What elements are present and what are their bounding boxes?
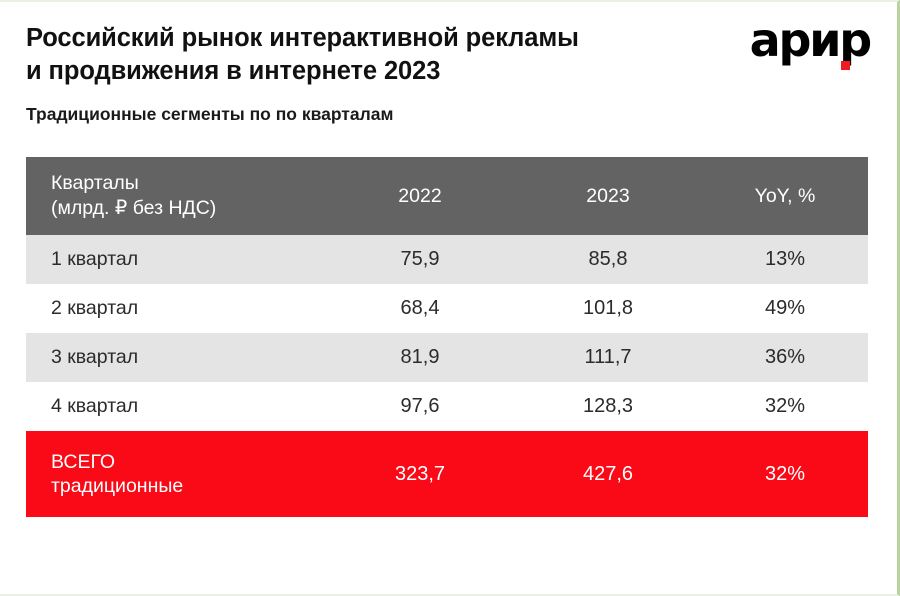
row-label: 1 квартал: [26, 235, 326, 284]
table-total-row: ВСЕГО традиционные 323,7 427,6 32%: [26, 431, 868, 517]
total-value-2022: 323,7: [326, 431, 514, 517]
page-subtitle: Традиционные сегменты по по кварталам: [26, 87, 874, 125]
slide: Российский рынок интерактивной рекламы и…: [0, 0, 900, 596]
logo-accent-square-icon: [841, 61, 850, 70]
total-label-line-1: ВСЕГО: [51, 450, 326, 474]
total-value-yoy: 32%: [702, 431, 868, 517]
total-label: ВСЕГО традиционные: [26, 431, 326, 517]
table-row: 3 квартал 81,9 111,7 36%: [26, 333, 868, 382]
row-value-yoy: 32%: [702, 382, 868, 431]
header-cell-2022: 2022: [326, 157, 514, 235]
total-label-line-2: традиционные: [51, 474, 326, 498]
row-label: 3 квартал: [26, 333, 326, 382]
page-title-line-2: и продвижения в интернете 2023: [26, 55, 686, 88]
header-quarters-line-1: Кварталы: [51, 171, 326, 196]
header-cell-quarters: Кварталы (млрд. ₽ без НДС): [26, 157, 326, 235]
row-value-2023: 101,8: [514, 284, 702, 333]
page-title: Российский рынок интерактивной рекламы и…: [26, 22, 686, 87]
row-value-2022: 81,9: [326, 333, 514, 382]
row-label: 4 квартал: [26, 382, 326, 431]
header: Российский рынок интерактивной рекламы и…: [26, 22, 874, 132]
header-cell-2023: 2023: [514, 157, 702, 235]
row-value-yoy: 49%: [702, 284, 868, 333]
row-value-yoy: 13%: [702, 235, 868, 284]
row-label: 2 квартал: [26, 284, 326, 333]
quarters-table: Кварталы (млрд. ₽ без НДС) 2022 2023 YoY…: [26, 157, 868, 517]
table-row: 2 квартал 68,4 101,8 49%: [26, 284, 868, 333]
table-row: 1 квартал 75,9 85,8 13%: [26, 235, 868, 284]
header-quarters-line-2: (млрд. ₽ без НДС): [51, 196, 326, 221]
header-cell-yoy: YoY, %: [702, 157, 868, 235]
row-value-2023: 85,8: [514, 235, 702, 284]
row-value-2022: 75,9: [326, 235, 514, 284]
total-value-2023: 427,6: [514, 431, 702, 517]
row-value-2023: 128,3: [514, 382, 702, 431]
row-value-2022: 68,4: [326, 284, 514, 333]
table-row: 4 квартал 97,6 128,3 32%: [26, 382, 868, 431]
table-header-row: Кварталы (млрд. ₽ без НДС) 2022 2023 YoY…: [26, 157, 868, 235]
arir-logo: арир: [748, 16, 870, 72]
page-title-line-1: Российский рынок интерактивной рекламы: [26, 22, 686, 55]
logo-wordmark: арир: [748, 16, 870, 64]
row-value-2022: 97,6: [326, 382, 514, 431]
row-value-2023: 111,7: [514, 333, 702, 382]
row-value-yoy: 36%: [702, 333, 868, 382]
